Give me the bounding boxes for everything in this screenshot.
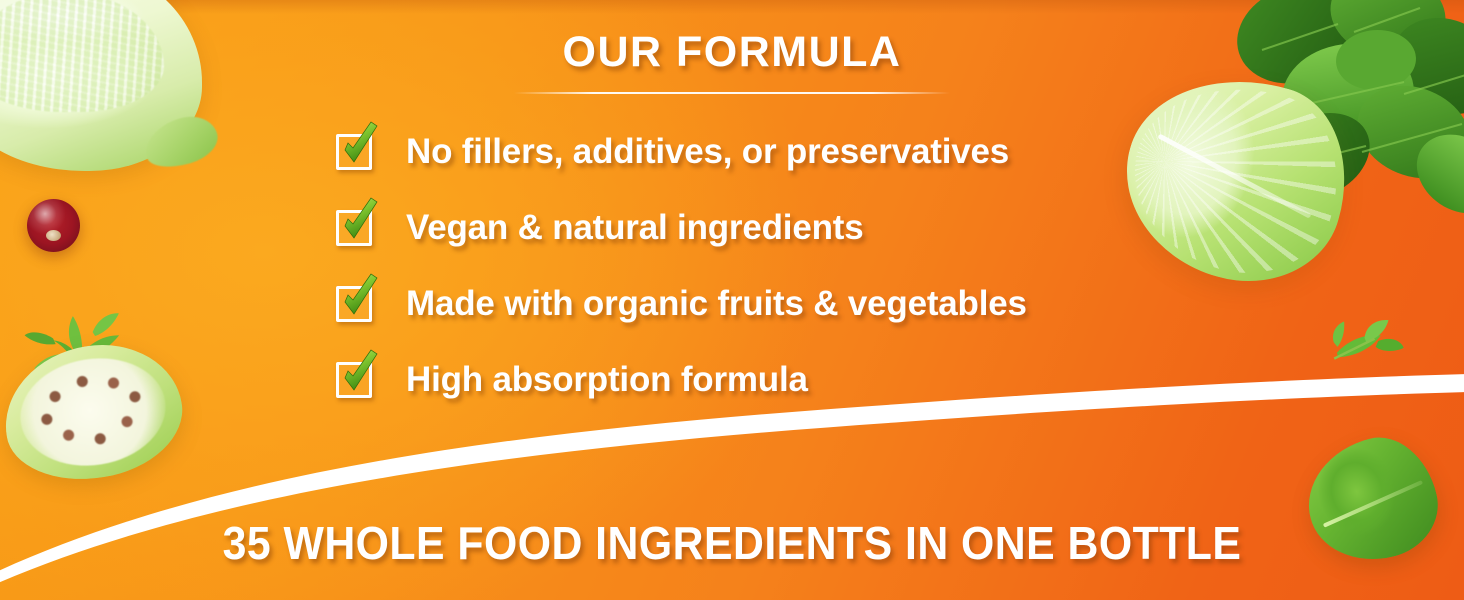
check-box-icon (336, 134, 372, 170)
banner-content: OUR FORMULA N (0, 0, 1464, 600)
list-item-label: No fillers, additives, or preservatives (406, 132, 1009, 172)
page-title: OUR FORMULA (0, 28, 1464, 77)
check-box-icon (336, 210, 372, 246)
list-item: No fillers, additives, or preservatives (336, 122, 1236, 182)
check-box-icon (336, 362, 372, 398)
list-item-label: Made with organic fruits & vegetables (406, 284, 1027, 324)
footer-headline: 35 WHOLE FOOD INGREDIENTS IN ONE BOTTLE (51, 516, 1413, 570)
promotional-banner: OUR FORMULA N (0, 0, 1464, 600)
list-item: Made with organic fruits & vegetables (336, 274, 1236, 334)
list-item-label: High absorption formula (406, 360, 808, 400)
feature-list: No fillers, additives, or preservatives (336, 122, 1236, 426)
list-item-label: Vegan & natural ingredients (406, 208, 863, 248)
list-item: High absorption formula (336, 350, 1236, 410)
check-box-icon (336, 286, 372, 322)
title-divider (514, 92, 950, 94)
list-item: Vegan & natural ingredients (336, 198, 1236, 258)
